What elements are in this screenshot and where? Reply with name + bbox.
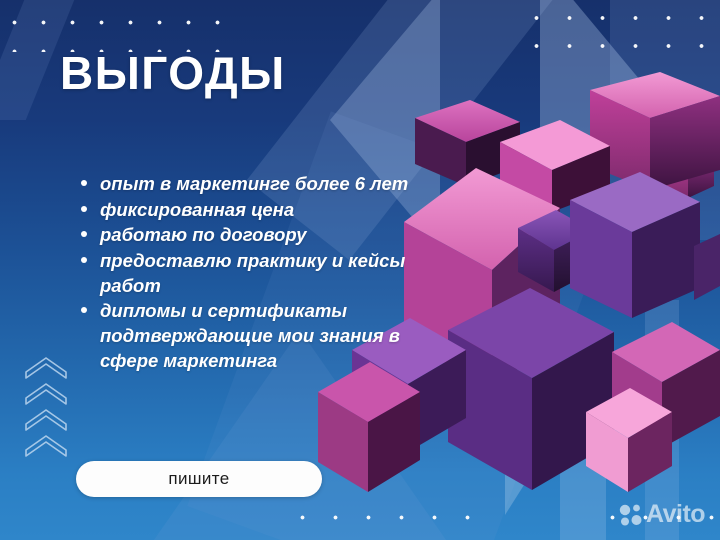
- decorative-band-lower-right: [560, 330, 606, 540]
- dot-grid-bottom-right: [596, 504, 720, 538]
- chevron-stack: [18, 356, 78, 466]
- chevron-up-icon: [26, 436, 66, 456]
- cube-pink-top: [500, 120, 610, 212]
- list-item: фиксированная цена: [78, 197, 430, 222]
- cube-purple-large-lower: [448, 288, 614, 490]
- avito-watermark: Avito: [618, 500, 705, 529]
- decorative-triangle-right: [540, 0, 640, 200]
- cube-dark-top-center: [415, 100, 520, 186]
- cube-small-topright: [664, 142, 714, 198]
- decorative-band-right: [610, 0, 720, 240]
- cta-write-button[interactable]: пишите: [76, 461, 322, 497]
- cube-pink-upper-right: [590, 72, 720, 190]
- dot-grid-bottom: [286, 504, 486, 538]
- cube-pink-bottom-right: [586, 388, 672, 492]
- page-title: ВЫГОДЫ: [60, 50, 286, 96]
- dot-grid-top-right: [520, 4, 720, 68]
- cube-magenta-bottom-left: [318, 362, 420, 492]
- list-item: дипломы и сертификаты подтверждающие мои…: [78, 298, 430, 373]
- chevron-up-icon: [26, 410, 66, 430]
- cube-purple-small-center: [518, 210, 592, 292]
- list-item: работаю по договору: [78, 222, 430, 247]
- list-item: предоставлю практику и кейсы работ: [78, 248, 430, 298]
- cube-dark-right-top: [694, 234, 720, 300]
- chevron-up-icon: [26, 384, 66, 404]
- decorative-band-far-right: [645, 300, 679, 540]
- decorative-shadow-triangle: [505, 365, 600, 515]
- avito-logo-icon: [618, 502, 644, 528]
- dot-grid-top-left: [0, 8, 230, 52]
- chevron-up-icon: [26, 358, 66, 378]
- promo-banner: ВЫГОДЫ опыт в маркетинге более 6 лет фик…: [0, 0, 720, 540]
- cube-magenta-right-mid: [612, 322, 720, 448]
- benefits-list: опыт в маркетинге более 6 лет фиксирован…: [78, 171, 430, 374]
- list-item: опыт в маркетинге более 6 лет: [78, 171, 430, 196]
- avito-watermark-text: Avito: [646, 500, 705, 529]
- cube-purple-right: [570, 172, 700, 318]
